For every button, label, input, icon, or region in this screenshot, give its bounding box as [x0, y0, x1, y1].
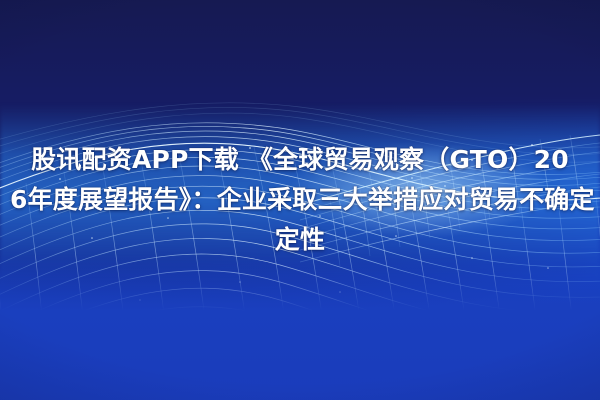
- banner-image: 股讯配资APP下载 《全球贸易观察（GTO）20 6年度展望报告》：企业采取三大…: [0, 0, 600, 400]
- headline-container: 股讯配资APP下载 《全球贸易观察（GTO）20 6年度展望报告》：企业采取三大…: [0, 0, 600, 400]
- headline-line-1: 股讯配资APP下载 《全球贸易观察（GTO）20: [10, 140, 590, 180]
- banner-headline: 股讯配资APP下载 《全球贸易观察（GTO）20 6年度展望报告》：企业采取三大…: [20, 140, 580, 260]
- headline-line-3: 定性: [20, 220, 580, 260]
- headline-line-2: 6年度展望报告》：企业采取三大举措应对贸易不确定: [10, 180, 590, 220]
